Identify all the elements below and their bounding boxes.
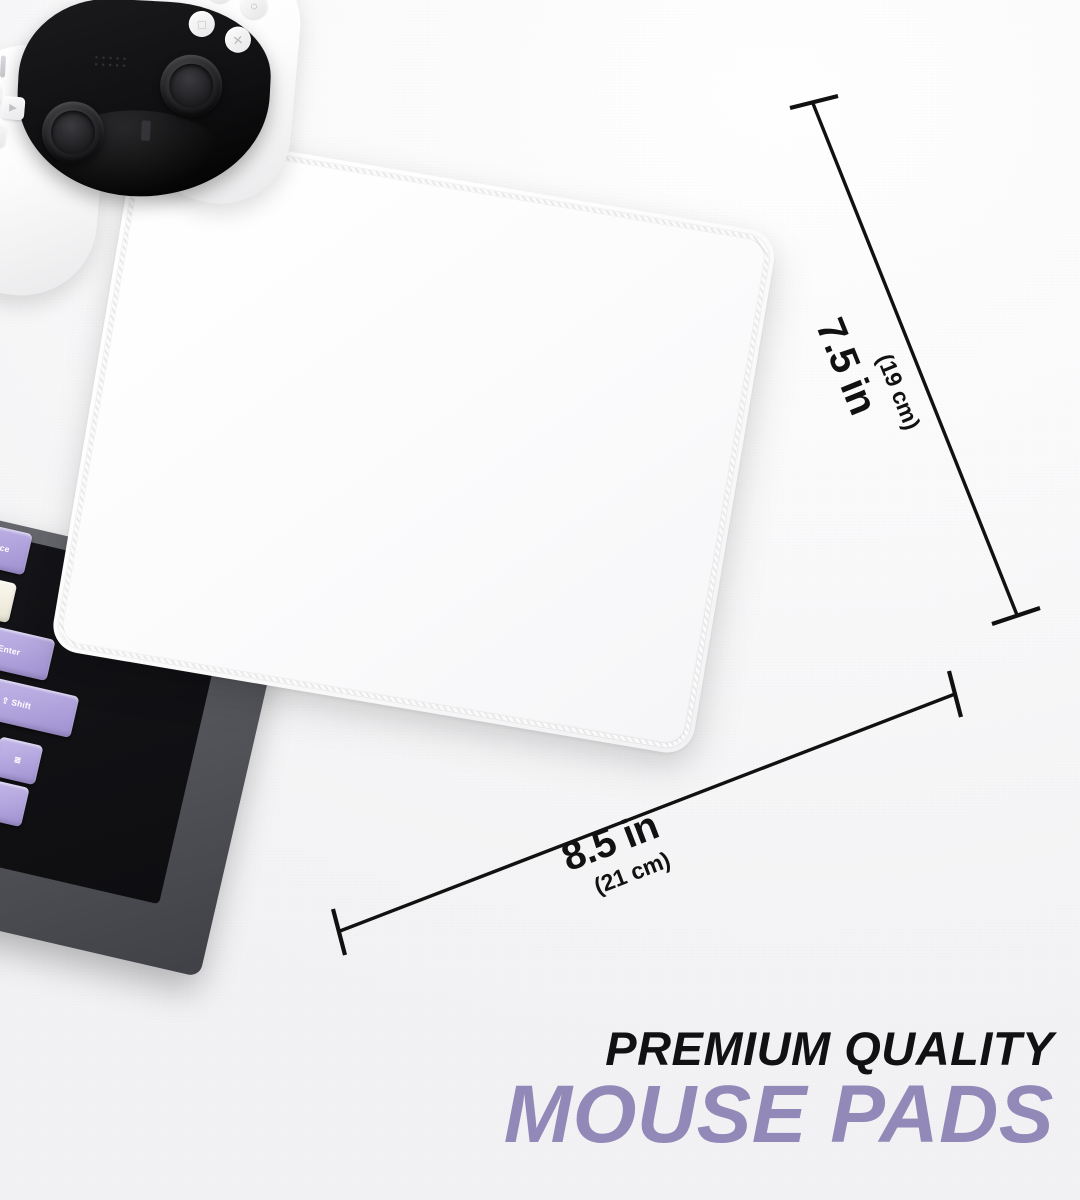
headline-title: MOUSE PADS — [0, 1074, 1054, 1156]
keycap-legend: ↵ Enter — [0, 642, 21, 659]
product-photo-scene: +={[}]|\:;"'?/← Backspace↵ Enter⇧ ShiftA… — [0, 0, 1080, 1200]
controller-speaker-grille — [92, 54, 127, 72]
keycap-legend: ⇧ Shift — [1, 696, 32, 712]
circle-glyph: ○ — [249, 0, 258, 12]
keycap-legend: ← Backspace — [0, 533, 10, 555]
dpad-right-icon: ▶ — [1, 96, 26, 121]
marketing-headline: PREMIUM QUALITY MOUSE PADS — [0, 1025, 1054, 1156]
square-glyph: □ — [197, 17, 206, 31]
keycap-legend: ≣ — [13, 755, 22, 766]
playstation-home-icon — [141, 120, 151, 140]
headline-eyebrow: PREMIUM QUALITY — [0, 1025, 1054, 1072]
ps5-controller-prop: ▲ ◀ ▶ ▼ △ ○ □ ✕ — [0, 0, 382, 356]
cross-glyph: ✕ — [232, 33, 244, 47]
